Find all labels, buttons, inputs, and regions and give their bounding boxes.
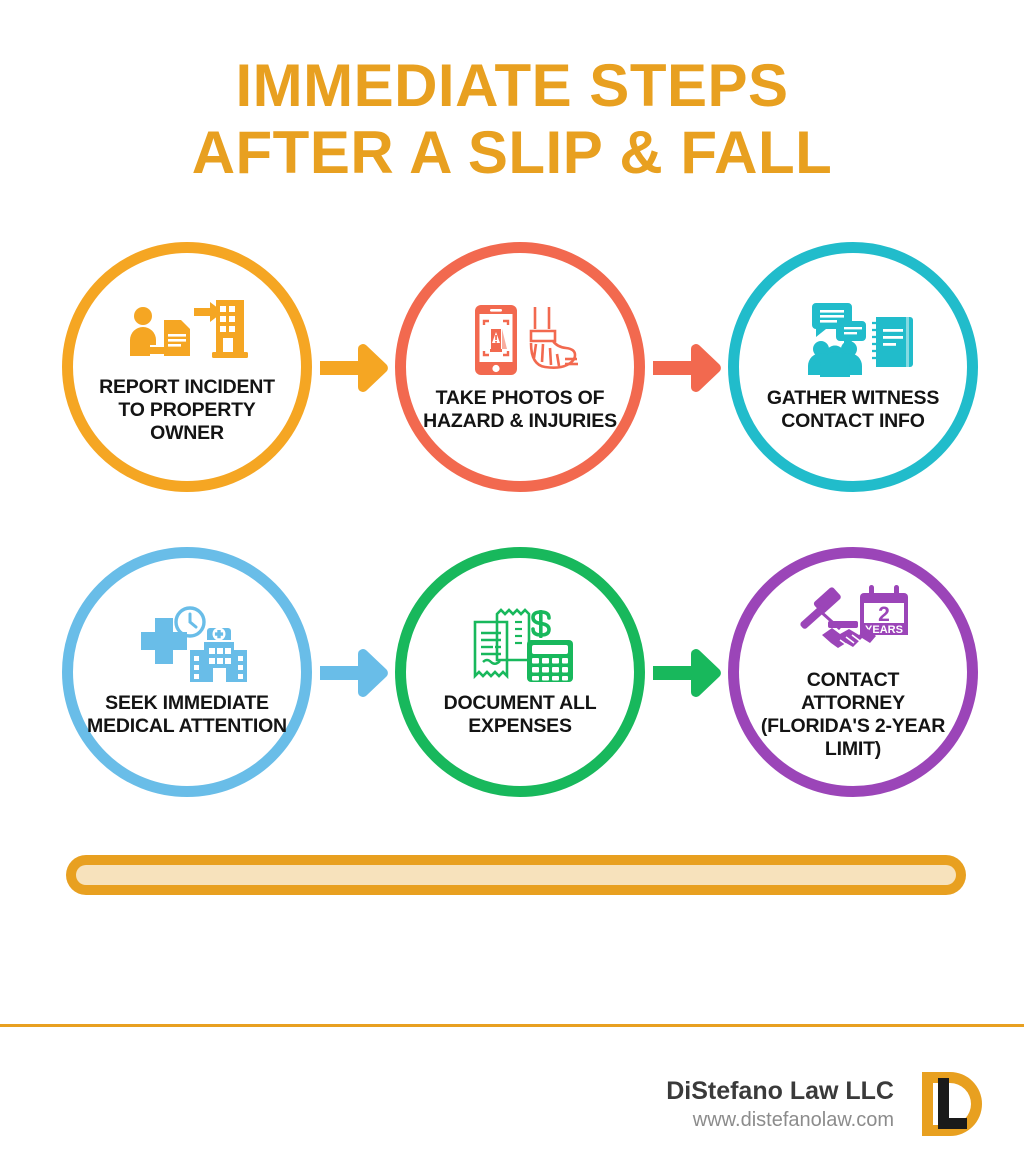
calendar-year-number: 2 [878, 603, 890, 626]
step-circle-report-incident[interactable]: REPORT INCIDENT TO PROPERTY OWNER [62, 242, 312, 492]
step-circle-gather-witness[interactable]: GATHER WITNESS CONTACT INFO [728, 242, 978, 492]
footer-divider [0, 1024, 1024, 1027]
steps-row-1: REPORT INCIDENT TO PROPERTY OWNER [62, 242, 978, 492]
step-label: DOCUMENT ALL EXPENSES [420, 692, 620, 738]
distefano-law-logo-icon[interactable] [916, 1068, 988, 1140]
arrow-step4-to-step5 [318, 644, 390, 700]
arrow-step1-to-step2 [318, 339, 390, 395]
arrow-step2-to-step3 [651, 339, 723, 395]
step-circle-take-photos[interactable]: TAKE PHOTOS OF HAZARD & INJURIES [395, 242, 645, 492]
step-label: REPORT INCIDENT TO PROPERTY OWNER [87, 376, 287, 445]
title-line-2: AFTER A SLIP & FALL [0, 119, 1024, 186]
step-label: GATHER WITNESS CONTACT INFO [753, 387, 953, 433]
step-label: CONTACT ATTORNEY (FLORIDA'S 2-YEAR LIMIT… [753, 669, 953, 761]
step-label: TAKE PHOTOS OF HAZARD & INJURIES [420, 387, 620, 433]
phone-camera-wet-floor-sign-bandaged-foot-icon [457, 301, 583, 379]
steps-row-2: SEEK IMMEDIATE MEDICAL ATTENTION [62, 547, 978, 797]
footer-branding-text: DiStefano Law LLC www.distefanolaw.com [666, 1076, 894, 1133]
medical-cross-clock-hospital-icon [124, 606, 250, 684]
arrow-step5-to-step6 [651, 644, 723, 700]
steps-grid: REPORT INCIDENT TO PROPERTY OWNER [62, 242, 978, 802]
person-handing-document-to-building-icon [124, 290, 250, 368]
gavel-handshake-calendar-icon: 2 YEARS [790, 583, 916, 661]
page-title: IMMEDIATE STEPS AFTER A SLIP & FALL [0, 52, 1024, 186]
orange-banner-bar [66, 855, 966, 895]
infographic-page: IMMEDIATE STEPS AFTER A SLIP & FALL [0, 0, 1024, 1154]
firm-website[interactable]: www.distefanolaw.com [666, 1107, 894, 1133]
receipt-dollar-calculator-icon [457, 606, 583, 684]
step-circle-document-expenses[interactable]: DOCUMENT ALL EXPENSES [395, 547, 645, 797]
people-speech-bubbles-notebook-icon [790, 301, 916, 379]
step-circle-contact-attorney[interactable]: 2 YEARS CONTACT ATTORNEY (FLORIDA'S 2-YE… [728, 547, 978, 797]
step-label: SEEK IMMEDIATE MEDICAL ATTENTION [87, 692, 287, 738]
footer: DiStefano Law LLC www.distefanolaw.com [0, 1054, 1024, 1154]
orange-banner-bar-inner [76, 865, 956, 885]
step-circle-seek-medical[interactable]: SEEK IMMEDIATE MEDICAL ATTENTION [62, 547, 312, 797]
firm-name: DiStefano Law LLC [666, 1076, 894, 1107]
title-line-1: IMMEDIATE STEPS [0, 52, 1024, 119]
